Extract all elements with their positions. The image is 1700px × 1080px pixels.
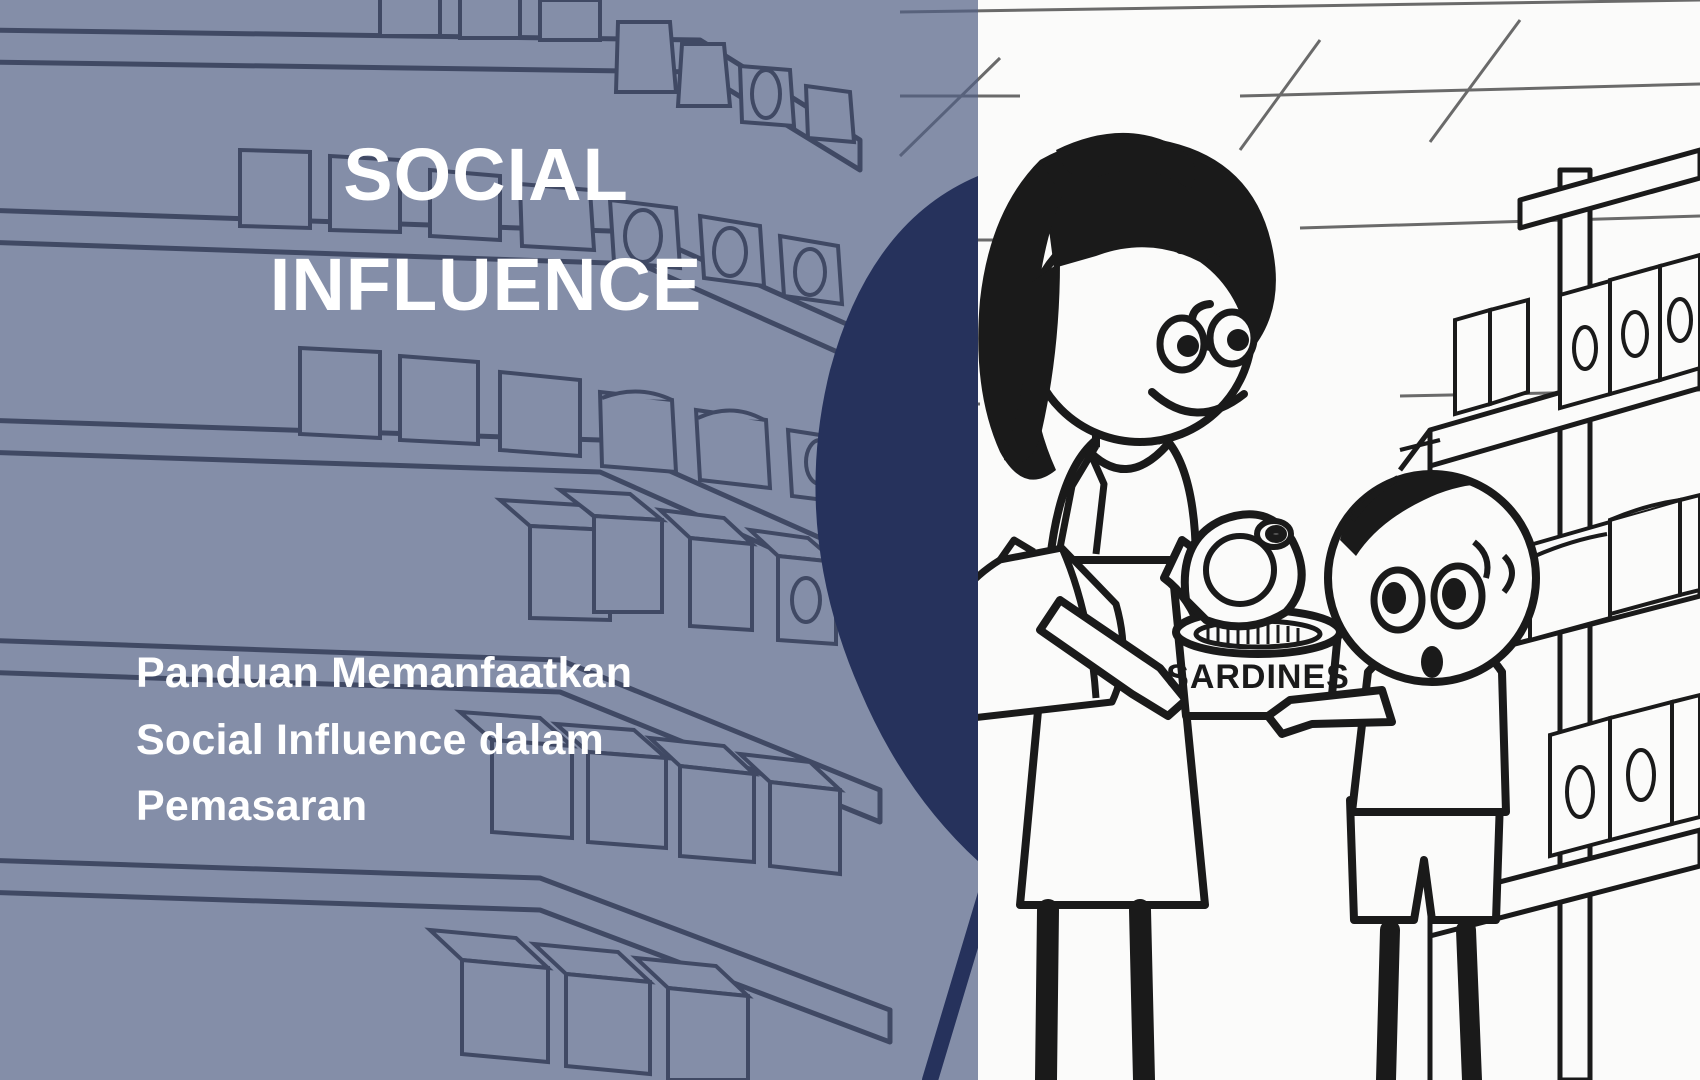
subtitle-line-2: Social Influence dalam	[136, 707, 796, 774]
title-line-2: INFLUENCE	[136, 230, 836, 340]
subtitle-line-1: Panduan Memanfaatkan	[136, 640, 796, 707]
subtitle-block: Panduan Memanfaatkan Social Influence da…	[136, 640, 796, 840]
slide-canvas: SARDINES	[0, 0, 1700, 1080]
title-line-1: SOCIAL	[136, 120, 836, 230]
title-block: SOCIAL INFLUENCE	[136, 120, 836, 339]
subtitle-line-3: Pemasaran	[136, 773, 796, 840]
